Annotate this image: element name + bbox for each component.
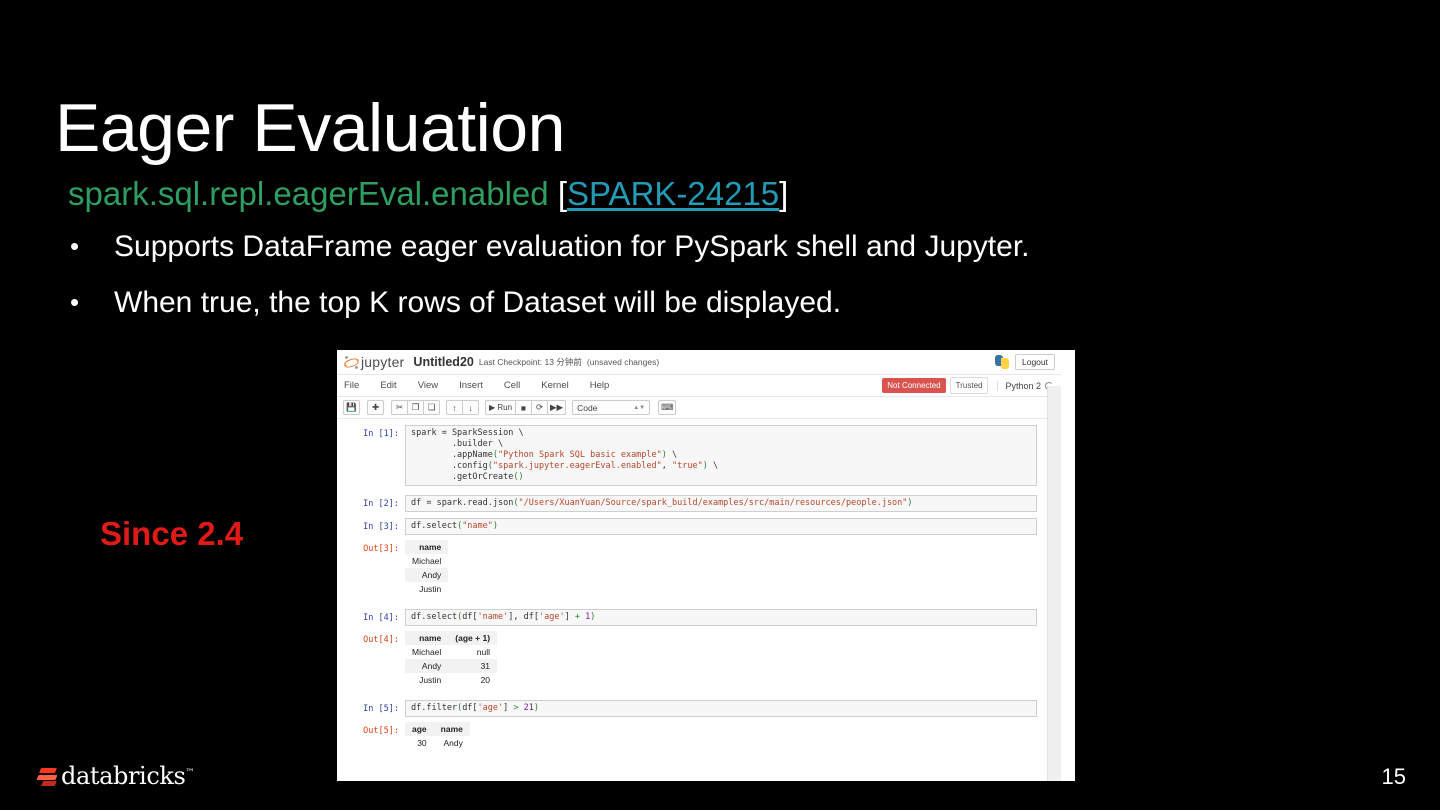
page-title: Eager Evaluation bbox=[55, 94, 565, 162]
table-header-row: name bbox=[405, 540, 448, 554]
table-cell: Michael bbox=[405, 645, 448, 659]
notebook-cell: In [2]: df = spark.read.json("/Users/Xua… bbox=[337, 495, 1061, 512]
table-cell: 31 bbox=[448, 659, 497, 673]
dataframe-output: nameMichaelAndyJustin bbox=[405, 540, 1037, 596]
table-cell: Andy bbox=[434, 736, 470, 750]
insert-cell-below-button[interactable]: ✚ bbox=[367, 400, 384, 415]
input-prompt: In [5]: bbox=[337, 700, 405, 717]
since-version-note: Since 2.4 bbox=[100, 515, 243, 553]
table-row: Andy bbox=[405, 568, 448, 582]
databricks-logo: databricks™ bbox=[36, 762, 194, 790]
notebook-scrollbar[interactable] bbox=[1047, 386, 1061, 781]
table-row: Michael bbox=[405, 554, 448, 568]
output-prompt: Out[5]: bbox=[337, 722, 405, 750]
code-editor[interactable]: df.filter(df['age'] > 21) bbox=[405, 700, 1037, 717]
menu-file[interactable]: File bbox=[344, 380, 371, 391]
bullet-marker: • bbox=[62, 232, 114, 262]
notebook-output: Out[3]: nameMichaelAndyJustin bbox=[337, 540, 1061, 596]
databricks-wordmark: databricks™ bbox=[61, 762, 194, 790]
code-editor[interactable]: df.select(df['name'], df['age'] + 1) bbox=[405, 609, 1037, 626]
jupyter-logo[interactable]: jupyter bbox=[344, 354, 404, 370]
list-item: • Supports DataFrame eager evaluation fo… bbox=[62, 232, 1362, 262]
output-prompt: Out[3]: bbox=[337, 540, 405, 596]
notebook-cell: In [4]: df.select(df['name'], df['age'] … bbox=[337, 609, 1061, 626]
bullet-marker: • bbox=[62, 288, 114, 318]
input-prompt: In [2]: bbox=[337, 495, 405, 512]
unsaved-changes-label: (unsaved changes) bbox=[587, 357, 659, 367]
input-prompt: In [1]: bbox=[337, 425, 405, 486]
dataframe-output: name(age + 1)MichaelnullAndy31Justin20 bbox=[405, 631, 1037, 687]
menu-edit[interactable]: Edit bbox=[380, 380, 408, 391]
bracket-open: [ bbox=[558, 175, 567, 212]
copy-cell-button[interactable]: ❐ bbox=[407, 400, 424, 415]
interrupt-kernel-button[interactable]: ■ bbox=[515, 400, 532, 415]
python-logo-icon bbox=[995, 355, 1009, 369]
menu-cell[interactable]: Cell bbox=[504, 380, 532, 391]
jupyter-wordmark: jupyter bbox=[361, 354, 404, 370]
table-row: Justin bbox=[405, 582, 448, 596]
notebook-cell: In [3]: df.select("name") bbox=[337, 518, 1061, 535]
chevron-updown-icon: ▲▼ bbox=[633, 405, 645, 411]
dataframe-table: nameMichaelAndyJustin bbox=[405, 540, 448, 596]
input-prompt: In [3]: bbox=[337, 518, 405, 535]
status-badge-trusted: Trusted bbox=[950, 377, 989, 394]
menu-insert[interactable]: Insert bbox=[459, 380, 495, 391]
kernel-name-label: Python 2 bbox=[1005, 381, 1041, 391]
notebook-cell: In [5]: df.filter(df['age'] > 21) bbox=[337, 700, 1061, 717]
column-header: name bbox=[434, 722, 470, 736]
code-editor[interactable]: df.select("name") bbox=[405, 518, 1037, 535]
notebook-output: Out[5]: agename30Andy bbox=[337, 722, 1061, 750]
status-badge-connection[interactable]: Not Connected bbox=[882, 378, 945, 393]
spark-jira-link[interactable]: SPARK-24215 bbox=[567, 175, 779, 212]
bullet-text: Supports DataFrame eager evaluation for … bbox=[114, 232, 1030, 262]
table-cell: Justin bbox=[405, 673, 448, 687]
brand-name: databricks bbox=[61, 762, 185, 790]
subtitle-line: spark.sql.repl.eagerEval.enabled [SPARK-… bbox=[68, 175, 788, 213]
last-checkpoint-label: Last Checkpoint: 13 分钟前 bbox=[479, 356, 582, 368]
databricks-mark-icon bbox=[36, 765, 58, 787]
move-cell-down-button[interactable]: ↓ bbox=[462, 400, 479, 415]
command-palette-button[interactable]: ⌨ bbox=[658, 400, 676, 415]
notebook-body: In [1]: spark = SparkSession \ .builder … bbox=[337, 419, 1061, 781]
table-row: Andy31 bbox=[405, 659, 497, 673]
menu-kernel[interactable]: Kernel bbox=[541, 380, 580, 391]
column-header: age bbox=[405, 722, 434, 736]
notebook-cell: In [1]: spark = SparkSession \ .builder … bbox=[337, 425, 1061, 486]
dataframe-output: agename30Andy bbox=[405, 722, 1037, 750]
table-row: 30Andy bbox=[405, 736, 470, 750]
table-cell: Andy bbox=[405, 659, 448, 673]
config-key-text: spark.sql.repl.eagerEval.enabled bbox=[68, 175, 549, 212]
notebook-header: jupyter Untitled20 Last Checkpoint: 13 分… bbox=[337, 350, 1061, 375]
notebook-output: Out[4]: name(age + 1)MichaelnullAndy31Ju… bbox=[337, 631, 1061, 687]
code-editor[interactable]: df = spark.read.json("/Users/XuanYuan/So… bbox=[405, 495, 1037, 512]
column-header: name bbox=[405, 540, 448, 554]
page-number: 15 bbox=[1382, 764, 1406, 790]
jupyter-planet-icon bbox=[344, 355, 359, 370]
table-cell: Andy bbox=[405, 568, 448, 582]
cut-cell-button[interactable]: ✂ bbox=[391, 400, 408, 415]
notebook-toolbar: 💾 ✚ ✂ ❐ ❏ ↑ ↓ ▶ Run ■ ⟳ ▶▶ Code ▲ bbox=[337, 397, 1061, 419]
table-row: Michaelnull bbox=[405, 645, 497, 659]
input-prompt: In [4]: bbox=[337, 609, 405, 626]
notebook-name[interactable]: Untitled20 bbox=[413, 355, 473, 369]
trademark-symbol: ™ bbox=[185, 768, 194, 778]
table-cell: null bbox=[448, 645, 497, 659]
restart-kernel-button[interactable]: ⟳ bbox=[531, 400, 548, 415]
column-header: name bbox=[405, 631, 448, 645]
notebook-menubar: File Edit View Insert Cell Kernel Help N… bbox=[337, 375, 1061, 397]
bullet-text: When true, the top K rows of Dataset wil… bbox=[114, 288, 841, 318]
code-editor[interactable]: spark = SparkSession \ .builder \ .appNa… bbox=[405, 425, 1037, 486]
table-header-row: agename bbox=[405, 722, 470, 736]
cell-type-value: Code bbox=[577, 403, 597, 413]
run-cell-button[interactable]: ▶ Run bbox=[485, 400, 516, 415]
bracket-close: ] bbox=[779, 175, 788, 212]
jupyter-notebook-screenshot: jupyter Untitled20 Last Checkpoint: 13 分… bbox=[337, 350, 1075, 781]
save-button[interactable]: 💾 bbox=[343, 400, 360, 415]
menu-help[interactable]: Help bbox=[590, 380, 622, 391]
table-cell: 20 bbox=[448, 673, 497, 687]
menu-view[interactable]: View bbox=[418, 380, 450, 391]
bullet-list: • Supports DataFrame eager evaluation fo… bbox=[62, 232, 1362, 344]
restart-and-run-all-button[interactable]: ▶▶ bbox=[547, 400, 566, 415]
table-cell: Justin bbox=[405, 582, 448, 596]
paste-cell-button[interactable]: ❏ bbox=[423, 400, 440, 415]
table-row: Justin20 bbox=[405, 673, 497, 687]
logout-button[interactable]: Logout bbox=[1015, 354, 1055, 370]
output-prompt: Out[4]: bbox=[337, 631, 405, 687]
table-cell: Michael bbox=[405, 554, 448, 568]
cell-type-select[interactable]: Code ▲▼ bbox=[572, 400, 650, 415]
table-cell: 30 bbox=[405, 736, 434, 750]
list-item: • When true, the top K rows of Dataset w… bbox=[62, 288, 1362, 318]
table-header-row: name(age + 1) bbox=[405, 631, 497, 645]
dataframe-table: agename30Andy bbox=[405, 722, 470, 750]
column-header: (age + 1) bbox=[448, 631, 497, 645]
dataframe-table: name(age + 1)MichaelnullAndy31Justin20 bbox=[405, 631, 497, 687]
move-cell-up-button[interactable]: ↑ bbox=[446, 400, 463, 415]
